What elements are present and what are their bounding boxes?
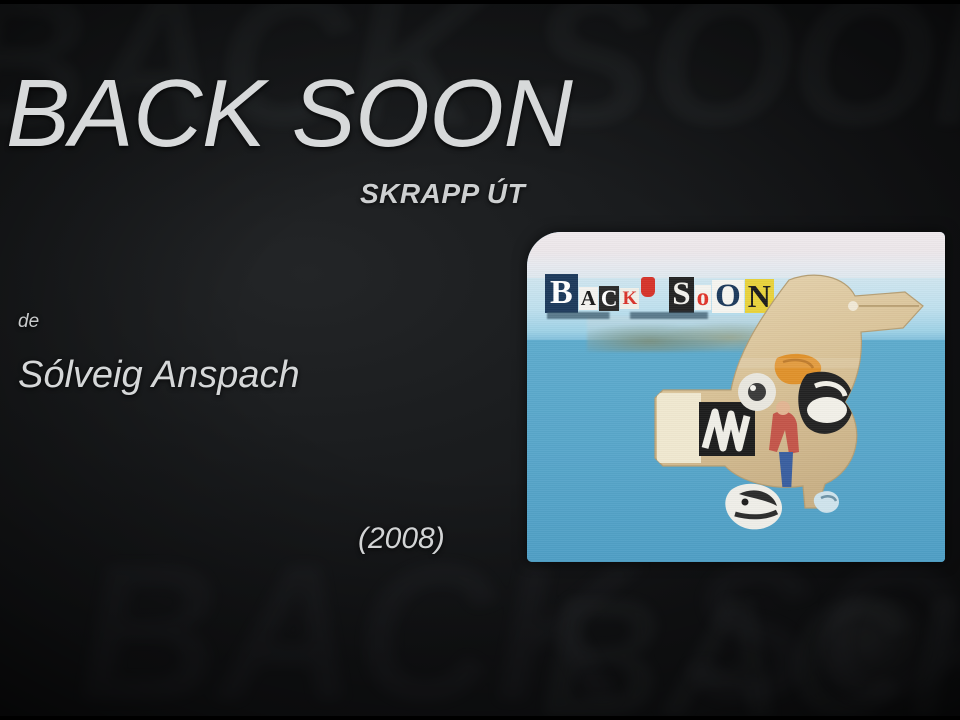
film-poster: B A C K S o O N <box>527 232 945 562</box>
frame-bottom-bar <box>0 716 960 720</box>
director-name: Sólveig Anspach <box>18 356 300 394</box>
poster-logo-letter-k: K <box>620 288 639 309</box>
poster-logo-letter-a: A <box>579 287 598 310</box>
subtitle: SKRAPP ÚT <box>360 180 525 208</box>
director-prefix-label: de <box>18 312 39 331</box>
poster-logo-letter-b: B <box>545 274 578 313</box>
frame-top-bar <box>0 0 960 4</box>
poster-bird-collage <box>639 262 939 552</box>
year-label: (2008) <box>358 524 445 554</box>
page-title: BACK SOON <box>6 66 572 162</box>
video-frame: BACK SOON BACK SOON BACK SOON BACK SOON … <box>0 0 960 720</box>
poster-logo-letter-c: C <box>599 286 620 311</box>
